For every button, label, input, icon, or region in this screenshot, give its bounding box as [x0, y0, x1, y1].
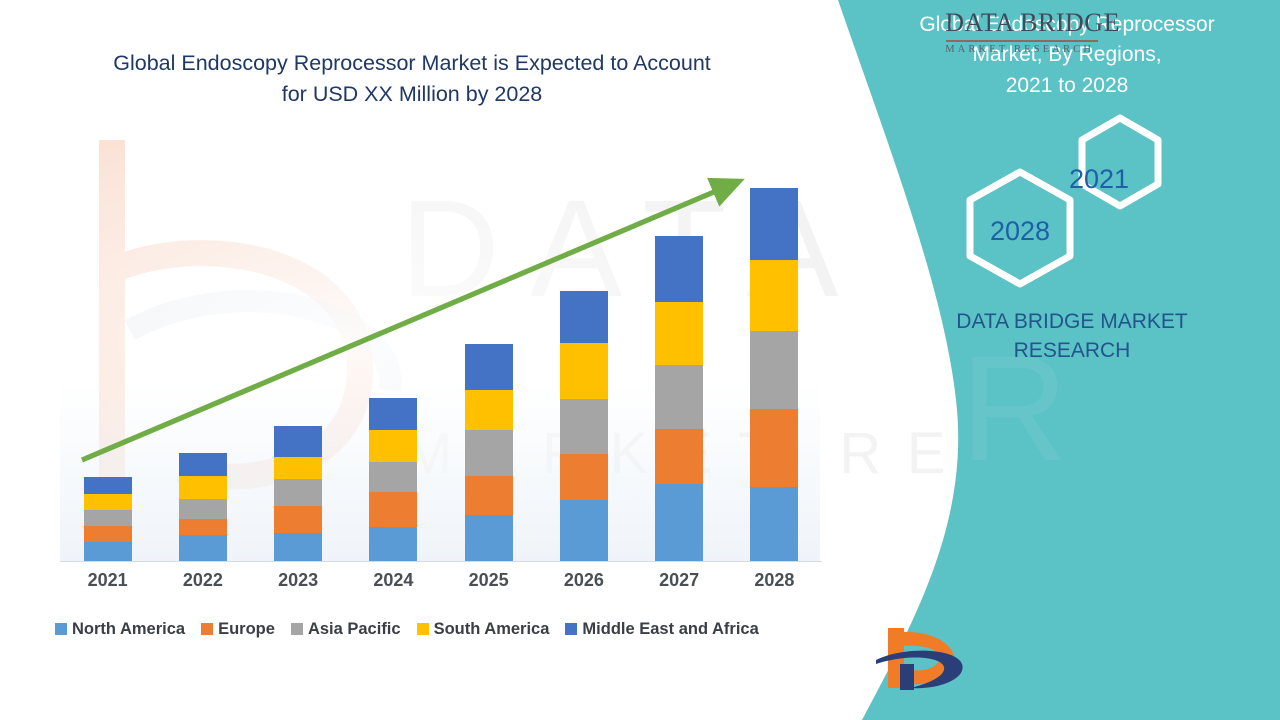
stacked-bar: [84, 477, 132, 561]
chart-bars: [60, 150, 822, 561]
stacked-bar: [369, 398, 417, 561]
bar-segment: [750, 188, 798, 260]
bar-segment: [179, 519, 227, 534]
bar-segment: [369, 398, 417, 429]
logo-divider: [946, 40, 1098, 42]
bar-column-2024: [346, 150, 440, 561]
bar-column-2027: [632, 150, 726, 561]
legend-item[interactable]: South America: [417, 620, 550, 639]
bar-column-2028: [727, 150, 821, 561]
bar-segment: [750, 260, 798, 332]
bar-segment: [84, 526, 132, 542]
bar-segment: [465, 515, 513, 561]
page-title: Global Endoscopy Reprocessor Market is E…: [52, 48, 772, 109]
x-axis-tick-2024: 2024: [346, 570, 440, 591]
chart-legend: North AmericaEuropeAsia PacificSouth Ame…: [55, 616, 835, 642]
bar-segment: [274, 457, 322, 479]
x-axis-tick-2023: 2023: [251, 570, 345, 591]
bar-segment: [274, 479, 322, 506]
x-axis-tick-2025: 2025: [442, 570, 536, 591]
bar-segment: [274, 426, 322, 457]
bar-segment: [465, 430, 513, 476]
stacked-bar-chart: [60, 150, 822, 562]
stacked-bar: [179, 453, 227, 561]
bar-segment: [560, 343, 608, 399]
stacked-bar: [750, 188, 798, 561]
legend-item[interactable]: Middle East and Africa: [565, 620, 758, 639]
bar-segment: [655, 484, 703, 561]
bar-segment: [179, 476, 227, 499]
logo-wordmark: DATA BRIDGE MARKET RESEARCH: [945, 8, 1120, 690]
legend-swatch-icon: [291, 623, 303, 635]
legend-swatch-icon: [55, 623, 67, 635]
x-axis-tick-2026: 2026: [537, 570, 631, 591]
bar-segment: [655, 429, 703, 484]
bar-segment: [179, 453, 227, 475]
stacked-bar: [560, 291, 608, 561]
bar-column-2025: [442, 150, 536, 561]
bar-segment: [84, 494, 132, 510]
legend-label: North America: [72, 620, 185, 639]
legend-swatch-icon: [201, 623, 213, 635]
bar-segment: [84, 542, 132, 561]
legend-item[interactable]: Europe: [201, 620, 275, 639]
bar-segment: [655, 302, 703, 366]
bar-column-2021: [61, 150, 155, 561]
bar-segment: [369, 430, 417, 462]
logo-tagline: MARKET RESEARCH: [945, 44, 1120, 55]
legend-item[interactable]: North America: [55, 620, 185, 639]
legend-item[interactable]: Asia Pacific: [291, 620, 401, 639]
x-axis-tick-2028: 2028: [727, 570, 821, 591]
bar-segment: [560, 454, 608, 500]
bar-column-2026: [537, 150, 631, 561]
page-title-line-2: for USD XX Million by 2028: [282, 82, 543, 106]
bar-segment: [560, 291, 608, 343]
bar-segment: [560, 399, 608, 454]
bar-column-2023: [251, 150, 345, 561]
bar-segment: [274, 506, 322, 532]
bar-segment: [179, 535, 227, 561]
legend-swatch-icon: [565, 623, 577, 635]
bar-segment: [84, 510, 132, 525]
legend-swatch-icon: [417, 623, 429, 635]
legend-label: South America: [434, 620, 550, 639]
chart-baseline: [60, 561, 822, 562]
x-axis-tick-2022: 2022: [156, 570, 250, 591]
bar-segment: [465, 390, 513, 430]
bar-segment: [179, 499, 227, 519]
page-title-line-1: Global Endoscopy Reprocessor Market is E…: [113, 51, 711, 75]
bar-segment: [750, 331, 798, 409]
bar-segment: [369, 462, 417, 492]
x-axis-tick-2027: 2027: [632, 570, 726, 591]
bar-segment: [369, 492, 417, 526]
legend-label: Europe: [218, 620, 275, 639]
x-axis-labels: 20212022202320242025202620272028: [60, 570, 822, 602]
legend-label: Middle East and Africa: [582, 620, 758, 639]
bar-segment: [750, 409, 798, 487]
bar-segment: [465, 476, 513, 516]
bar-segment: [655, 365, 703, 429]
infographic-canvas: DATA BRIDGE MARKET RESEARCH Global Endos…: [0, 0, 1280, 720]
x-axis-tick-2021: 2021: [61, 570, 155, 591]
stacked-bar: [655, 236, 703, 561]
bar-segment: [465, 344, 513, 390]
logo-name: DATA BRIDGE: [945, 8, 1120, 38]
bar-segment: [560, 500, 608, 561]
bar-column-2022: [156, 150, 250, 561]
stacked-bar: [465, 344, 513, 561]
stacked-bar: [274, 426, 322, 562]
bar-segment: [274, 533, 322, 561]
bar-segment: [750, 487, 798, 561]
bar-segment: [84, 477, 132, 494]
bar-segment: [369, 527, 417, 561]
bar-segment: [655, 236, 703, 302]
legend-label: Asia Pacific: [308, 620, 401, 639]
